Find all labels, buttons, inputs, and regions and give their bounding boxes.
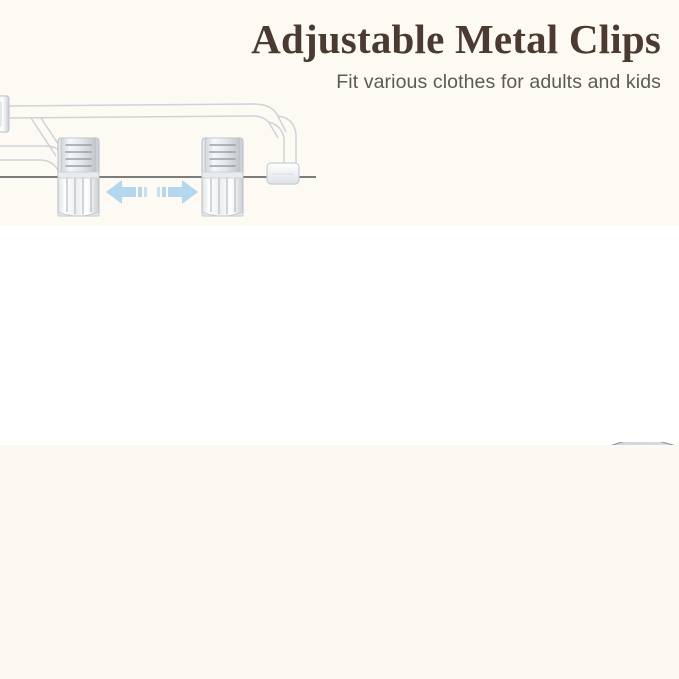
panel-clip-with-rubber-pad: Clip With Rubber Pad No more slipping an… (0, 226, 679, 445)
hanger-frame (0, 104, 296, 178)
hook-stem (0, 74, 5, 98)
swivel-barrel (0, 96, 9, 132)
panel-1-heading: Adjustable Metal Clips (251, 18, 661, 61)
metal-clip-left (58, 138, 99, 216)
panel-1-text-block: Adjustable Metal Clips Fit various cloth… (251, 18, 661, 95)
arrow-right-icon (157, 180, 198, 204)
metal-clip-right (202, 138, 243, 216)
panel-1-subtitle: Fit various clothes for adults and kids (251, 70, 661, 96)
panel-adjustable-metal-clips: Adjustable Metal Clips Fit various cloth… (0, 0, 679, 226)
product-infographic: Adjustable Metal Clips Fit various cloth… (0, 0, 679, 679)
arrow-left-icon (106, 180, 147, 204)
panel-swivel-hook: 360 ° (0, 445, 679, 679)
hanger-end-cap (267, 163, 299, 184)
hanger-with-adjustable-clips-artwork (0, 74, 316, 226)
